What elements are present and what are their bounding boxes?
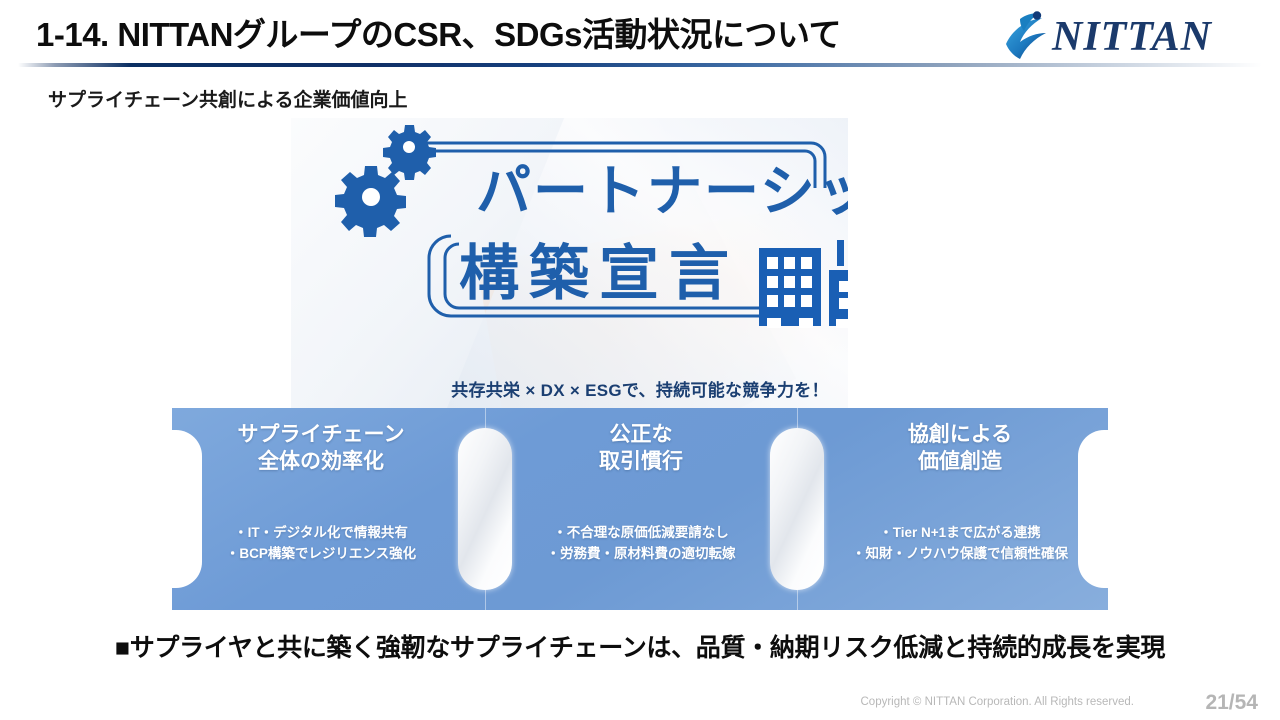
pillar-column-1: サプライチェーン 全体の効率化 ・IT・デジタル化で情報共有 ・BCP構築でレジ… xyxy=(184,408,458,610)
pillar-bullet-3-2: ・知財・ノウハウ保護で信頼性確保 xyxy=(852,546,1068,561)
pillar-bullet-1-1: ・IT・デジタル化で情報共有 xyxy=(234,525,408,540)
pillar-title-1-line1: サプライチェーン xyxy=(238,423,405,446)
pillar-bullets-1: ・IT・デジタル化で情報共有 ・BCP構築でレジリエンス強化 xyxy=(184,523,458,565)
pillar-title-3-line2: 価値創造 xyxy=(918,450,1002,473)
building-icon-short xyxy=(829,240,848,328)
copyright-notice: Copyright © NITTAN Corporation. All Righ… xyxy=(861,696,1135,708)
slide-header: 1-14. NITTANグループのCSR、SDGs活動状況について NITTAN xyxy=(0,0,1280,72)
pillar-bullet-1-2: ・BCP構築でレジリエンス強化 xyxy=(226,546,416,561)
pillar-title-2: 公正な 取引慣行 xyxy=(512,422,770,476)
pillar-bullet-2-2: ・労務費・原材料費の適切転嫁 xyxy=(547,546,736,561)
band-separator-2 xyxy=(770,428,824,590)
page-number: 21/54 xyxy=(1205,691,1258,715)
band-separator-1 xyxy=(458,428,512,590)
summary-statement: ■サプライヤと共に築く強靭なサプライチェーンは、品質・納期リスク低減と持続的成長… xyxy=(0,628,1280,664)
partnership-visual: パートナーシップ 構築宣言 xyxy=(291,118,848,413)
logo-wordmark: NITTAN xyxy=(1051,14,1213,60)
nittan-swoosh-icon xyxy=(1006,11,1046,59)
pillar-column-2: 公正な 取引慣行 ・不合理な原価低減要請なし ・労務費・原材料費の適切転嫁 xyxy=(512,408,770,610)
pillar-title-2-line1: 公正な xyxy=(610,423,673,446)
slide: 1-14. NITTANグループのCSR、SDGs活動状況について NITTAN xyxy=(0,0,1280,720)
pillar-title-3-line1: 協創による xyxy=(908,423,1012,446)
pillar-bullets-3: ・Tier N+1まで広がる連携 ・知財・ノウハウ保護で信頼性確保 xyxy=(824,523,1096,565)
page-title: 1-14. NITTANグループのCSR、SDGs活動状況について xyxy=(36,12,841,58)
nittan-logo: NITTAN xyxy=(1000,10,1258,60)
pillar-bullets-2: ・不合理な原価低減要請なし ・労務費・原材料費の適切転嫁 xyxy=(512,523,770,565)
header-divider xyxy=(18,63,1262,67)
pillar-bullet-2-1: ・不合理な原価低減要請なし xyxy=(553,525,729,540)
pillar-title-2-line2: 取引慣行 xyxy=(599,450,683,473)
pillars-band: サプライチェーン 全体の効率化 ・IT・デジタル化で情報共有 ・BCP構築でレジ… xyxy=(172,408,1108,610)
pillar-column-3: 協創による 価値創造 ・Tier N+1まで広がる連携 ・知財・ノウハウ保護で信… xyxy=(824,408,1096,610)
pillar-title-1-line2: 全体の効率化 xyxy=(258,450,384,473)
visual-tagline: 共存共栄 × DX × ESGで、持続可能な競争力を！ xyxy=(0,376,1280,401)
partnership-emblem: パートナーシップ 構築宣言 xyxy=(291,118,848,348)
pillar-title-1: サプライチェーン 全体の効率化 xyxy=(184,422,458,476)
building-icon-tall xyxy=(759,248,821,328)
section-subtitle: サプライチェーン共創による企業価値向上 xyxy=(48,85,407,112)
emblem-line-1: パートナーシップ xyxy=(476,160,848,222)
pillar-title-3: 協創による 価値創造 xyxy=(824,422,1096,476)
gear-icon-large xyxy=(335,166,406,237)
pillar-bullet-3-1: ・Tier N+1まで広がる連携 xyxy=(879,525,1040,540)
emblem-line-2: 構築宣言 xyxy=(459,240,739,307)
